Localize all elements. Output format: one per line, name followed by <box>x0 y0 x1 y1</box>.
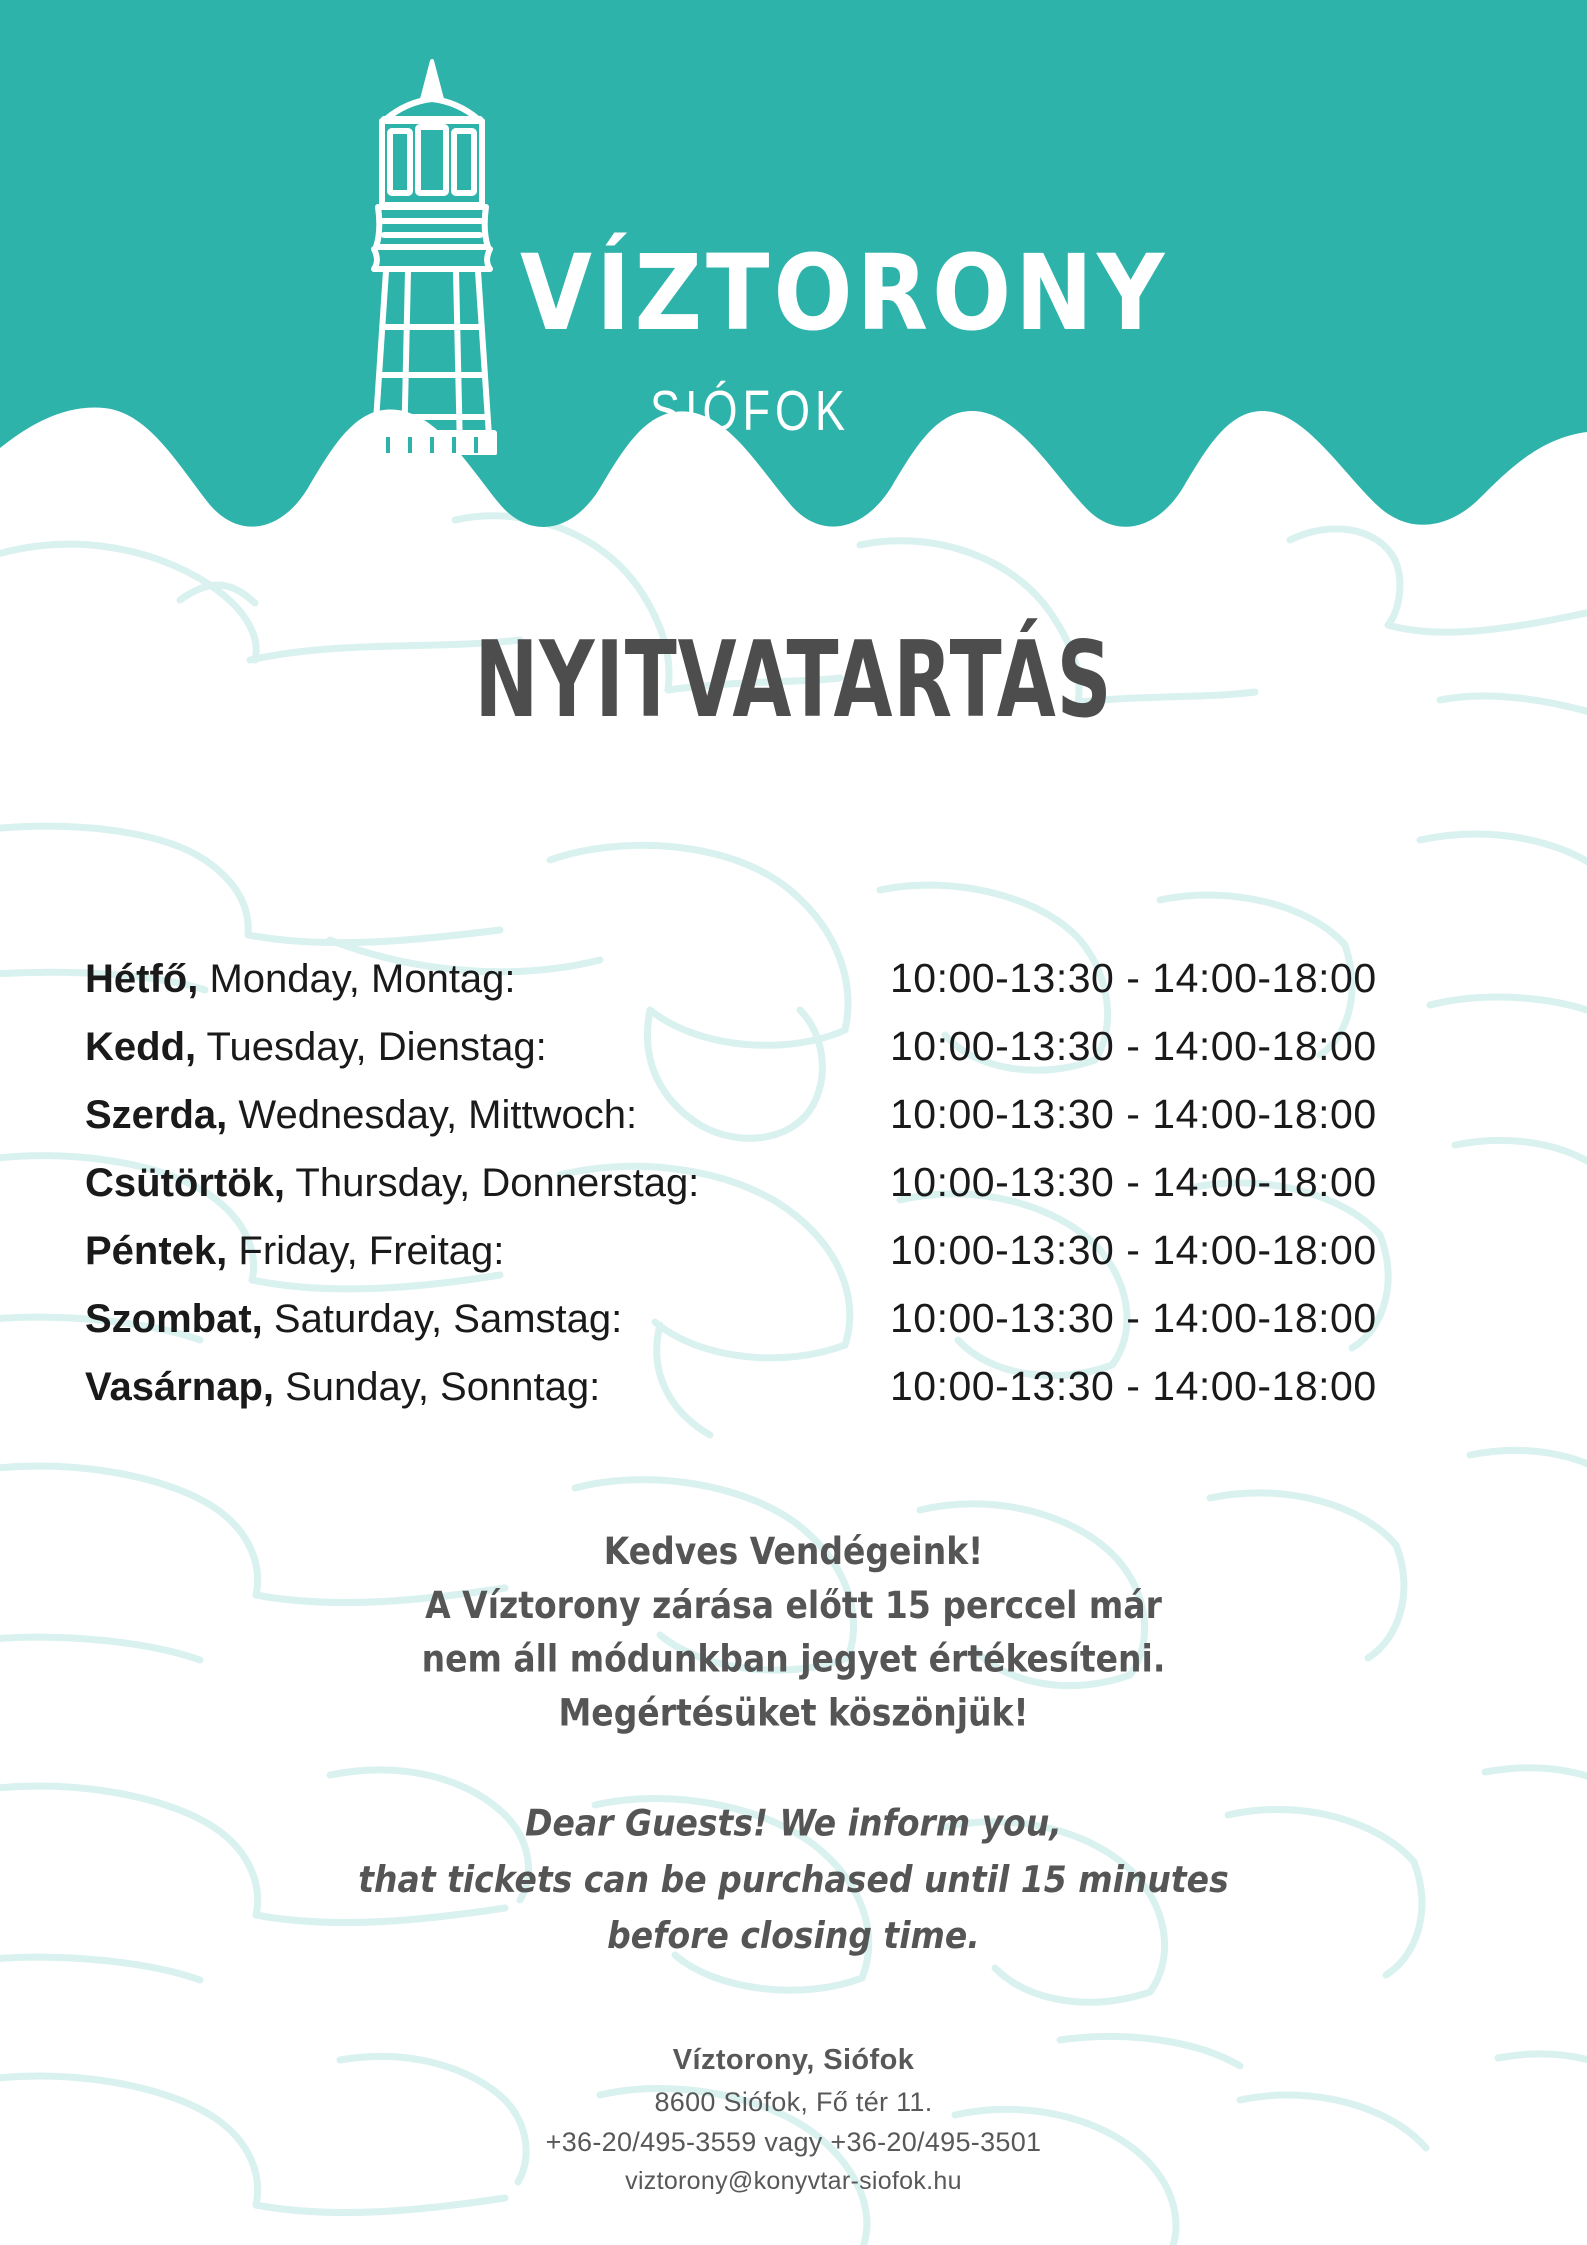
day-name-hu: Szerda, <box>85 1093 227 1137</box>
notice-en-line-3: before closing time. <box>0 1907 1587 1963</box>
day-label: Kedd, Tuesday, Dienstag: <box>85 1025 890 1070</box>
notice-hu-line-2: A Víztorony zárása előtt 15 perccel már <box>0 1579 1587 1633</box>
day-hours: 10:00-13:30 - 14:00-18:00 <box>890 1227 1377 1274</box>
opening-hours-table: Hétfő, Monday, Montag: 10:00-13:30 - 14:… <box>85 955 1505 1431</box>
day-label: Vasárnap, Sunday, Sonntag: <box>85 1365 890 1410</box>
day-label: Csütörtök, Thursday, Donnerstag: <box>85 1161 890 1206</box>
notice-hungarian: Kedves Vendégeink! A Víztorony zárása el… <box>0 1525 1587 1740</box>
notice-en-line-2: that tickets can be purchased until 15 m… <box>0 1851 1587 1907</box>
table-row: Hétfő, Monday, Montag: 10:00-13:30 - 14:… <box>85 955 1505 1023</box>
poster-content: NYITVATARTÁS Hétfő, Monday, Montag: 10:0… <box>0 0 1587 2245</box>
footer-address: 8600 Siófok, Fő tér 11. <box>0 2082 1587 2122</box>
table-row: Vasárnap, Sunday, Sonntag: 10:00-13:30 -… <box>85 1363 1505 1431</box>
day-hours: 10:00-13:30 - 14:00-18:00 <box>890 955 1377 1002</box>
day-name-translations: Wednesday, Mittwoch: <box>227 1093 637 1137</box>
day-label: Péntek, Friday, Freitag: <box>85 1229 890 1274</box>
day-name-translations: Sunday, Sonntag: <box>274 1365 600 1409</box>
day-hours: 10:00-13:30 - 14:00-18:00 <box>890 1363 1377 1410</box>
day-name-hu: Csütörtök, <box>85 1161 285 1205</box>
day-name-translations: Saturday, Samstag: <box>263 1297 622 1341</box>
notice-hu-line-1: Kedves Vendégeink! <box>0 1525 1587 1579</box>
day-name-translations: Tuesday, Dienstag: <box>196 1025 547 1069</box>
notice-hu-line-4: Megértésüket köszönjük! <box>0 1686 1587 1740</box>
day-label: Szerda, Wednesday, Mittwoch: <box>85 1093 890 1138</box>
day-name-hu: Kedd, <box>85 1025 196 1069</box>
day-name-hu: Vasárnap, <box>85 1365 274 1409</box>
footer-email: viztorony@konyvtar-siofok.hu <box>0 2162 1587 2200</box>
day-name-translations: Friday, Freitag: <box>227 1229 504 1273</box>
table-row: Szerda, Wednesday, Mittwoch: 10:00-13:30… <box>85 1091 1505 1159</box>
day-hours: 10:00-13:30 - 14:00-18:00 <box>890 1295 1377 1342</box>
table-row: Kedd, Tuesday, Dienstag: 10:00-13:30 - 1… <box>85 1023 1505 1091</box>
day-name-hu: Hétfő, <box>85 957 198 1001</box>
day-name-hu: Szombat, <box>85 1297 263 1341</box>
footer-phone: +36-20/495-3559 vagy +36-20/495-3501 <box>0 2122 1587 2162</box>
day-hours: 10:00-13:30 - 14:00-18:00 <box>890 1091 1377 1138</box>
day-label: Szombat, Saturday, Samstag: <box>85 1297 890 1342</box>
day-name-hu: Péntek, <box>85 1229 227 1273</box>
page-title: NYITVATARTÁS <box>56 620 1532 742</box>
footer-contact-block: Víztorony, Siófok 8600 Siófok, Fő tér 11… <box>0 2038 1587 2200</box>
day-hours: 10:00-13:30 - 14:00-18:00 <box>890 1159 1377 1206</box>
footer-venue-name: Víztorony, Siófok <box>0 2038 1587 2082</box>
notice-english: Dear Guests! We inform you, that tickets… <box>0 1795 1587 1963</box>
table-row: Csütörtök, Thursday, Donnerstag: 10:00-1… <box>85 1159 1505 1227</box>
table-row: Szombat, Saturday, Samstag: 10:00-13:30 … <box>85 1295 1505 1363</box>
table-row: Péntek, Friday, Freitag: 10:00-13:30 - 1… <box>85 1227 1505 1295</box>
notice-en-line-1: Dear Guests! We inform you, <box>0 1795 1587 1851</box>
notice-hu-line-3: nem áll módunkban jegyet értékesíteni. <box>0 1633 1587 1687</box>
day-label: Hétfő, Monday, Montag: <box>85 957 890 1002</box>
day-name-translations: Thursday, Donnerstag: <box>285 1161 699 1205</box>
day-hours: 10:00-13:30 - 14:00-18:00 <box>890 1023 1377 1070</box>
day-name-translations: Monday, Montag: <box>198 957 515 1001</box>
